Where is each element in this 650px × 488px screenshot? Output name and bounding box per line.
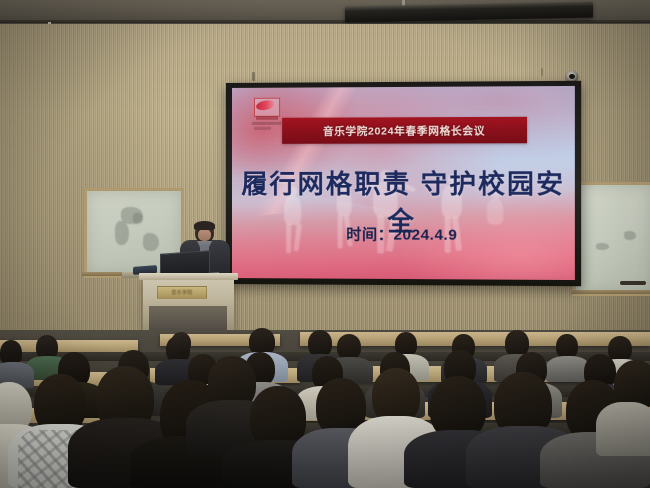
lecture-hall-photo: 音乐学院2024年春季网格长会议 履行网格职责 守护校园安全 时间：2024.4…	[0, 0, 650, 488]
whiteboard-scribble	[115, 221, 129, 245]
presenter-hair	[194, 221, 215, 230]
whiteboard-marker	[620, 281, 646, 285]
whiteboard-scribble	[143, 233, 159, 251]
institution-emblem-icon	[252, 98, 282, 131]
presenter-face	[198, 229, 211, 241]
podium-name-plate: 音乐学院	[157, 286, 207, 299]
slide-banner: 音乐学院2024年春季网格长会议	[282, 117, 527, 144]
wall-fixture-mark	[541, 68, 543, 76]
projected-slide: 音乐学院2024年春季网格长会议 履行网格职责 守护校园安全 时间：2024.4…	[232, 86, 575, 280]
whiteboard-tray	[571, 290, 650, 294]
podium-top	[139, 273, 238, 280]
whiteboard-scribble	[624, 231, 636, 240]
wall-fixture-mark	[252, 72, 255, 81]
slide-date: 时间：2024.4.9	[232, 223, 575, 245]
projection-screen: 音乐学院2024年春季网格长会议 履行网格职责 守护校园安全 时间：2024.4…	[226, 81, 581, 286]
slide-banner-text: 音乐学院2024年春季网格长会议	[323, 123, 485, 139]
ceiling-seam	[0, 20, 650, 23]
podium-plate-text: 音乐学院	[171, 289, 192, 296]
whiteboard	[573, 182, 650, 296]
whiteboard-scribble	[596, 243, 609, 250]
whiteboard-scribble	[133, 213, 143, 224]
